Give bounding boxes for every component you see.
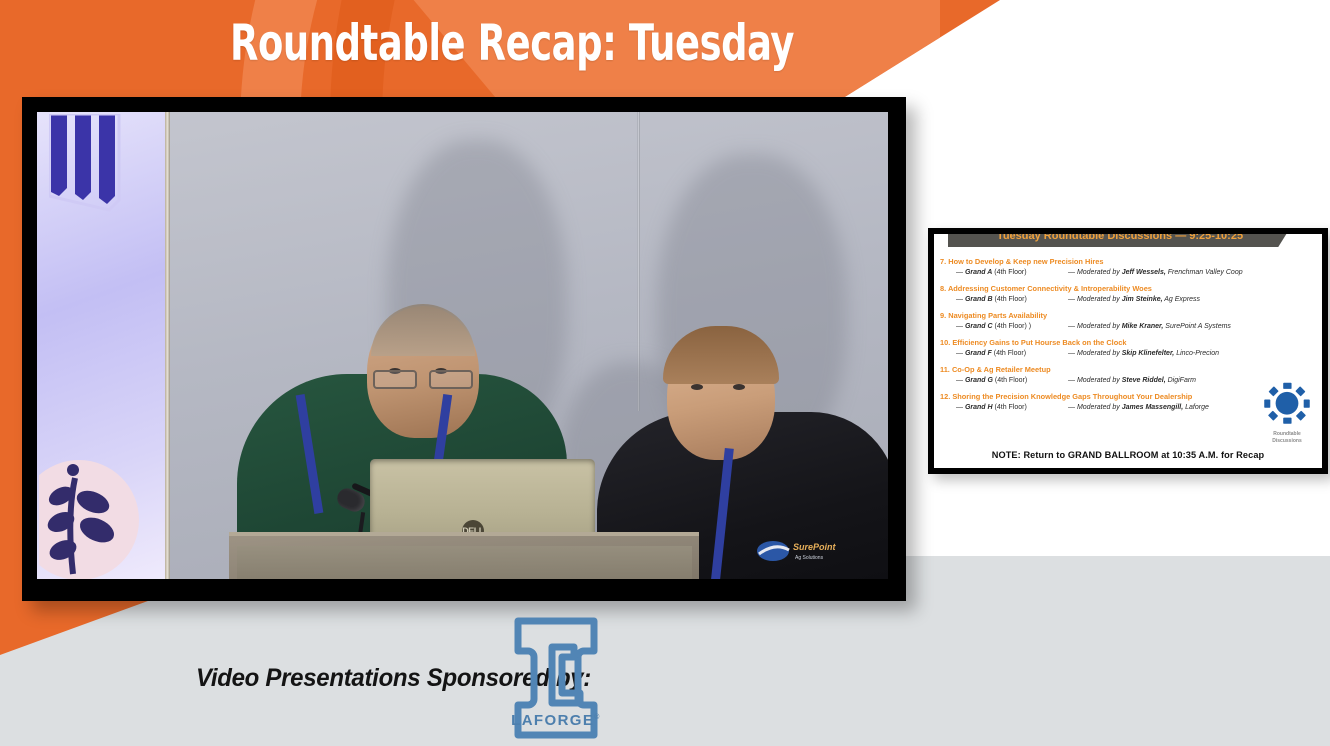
moderator-name: James Massengill, [1122, 404, 1183, 411]
roundtable-moderator: — Moderated by Steve Riddel, DigiFarm [1068, 375, 1196, 386]
moderated-prefix: — Moderated by [1068, 350, 1120, 357]
eyeglasses [373, 370, 473, 387]
roundtable-moderator: — Moderated by Mike Kraner, SurePoint A … [1068, 321, 1231, 332]
roundtable-room: — Grand A (4th Floor) [956, 267, 1068, 278]
roundtable-item: 8. Addressing Customer Connectivity & In… [940, 283, 1316, 305]
video-scene: SurePoint Ag Solutions ACRE+ [37, 112, 888, 579]
dash: — [956, 269, 963, 276]
roundtable-title: 8. Addressing Customer Connectivity & In… [940, 283, 1316, 294]
moderator-company: DigiFarm [1168, 377, 1196, 384]
svg-text:Ag Solutions: Ag Solutions [795, 555, 824, 561]
roundtable-details: — Grand F (4th Floor) — Moderated by Ski… [940, 348, 1316, 359]
room-floor: (4th Floor) [994, 269, 1026, 276]
moderator-company: Frenchman Valley Coop [1168, 269, 1243, 276]
moderated-prefix: — Moderated by [1068, 296, 1120, 303]
presentation-slide[interactable]: Tuesday Roundtable Discussions — 9:25-10… [934, 234, 1322, 468]
video-player[interactable]: SurePoint Ag Solutions ACRE+ [22, 97, 906, 601]
room-floor: (4th Floor) [995, 377, 1027, 384]
roundtable-topic: Addressing Customer Connectivity & Intro… [948, 284, 1152, 293]
roundtable-details: — Grand C (4th Floor) ) — Moderated by M… [940, 321, 1316, 332]
roundtable-item: 10. Efficiency Gains to Put Hourse Back … [940, 337, 1316, 359]
dash: — [956, 404, 963, 411]
room-name: Grand G [965, 377, 993, 384]
roundtable-room: — Grand B (4th Floor) [956, 294, 1068, 305]
eye [733, 384, 745, 390]
room-name: Grand H [965, 404, 993, 411]
slide-canvas: Roundtable Recap: Tuesday [0, 0, 1330, 746]
roundtable-room: — Grand C (4th Floor) ) [956, 321, 1068, 332]
surepoint-chest-logo: SurePoint Ag Solutions [755, 538, 851, 564]
room-floor: (4th Floor) [995, 296, 1027, 303]
moderator-company: SurePoint A Systems [1165, 323, 1231, 330]
room-floor: (4th Floor) ) [995, 323, 1032, 330]
moderator-company: Ag Express [1164, 296, 1200, 303]
roundtable-item: 9. Navigating Parts Availability — Grand… [940, 310, 1316, 332]
roundtable-badge: Roundtable Discussions [1256, 382, 1318, 445]
roundtable-number: 7. [940, 257, 946, 266]
roundtable-details: — Grand A (4th Floor) — Moderated by Jef… [940, 267, 1316, 278]
video-viewport: SurePoint Ag Solutions ACRE+ [37, 112, 888, 579]
roundtable-number: 9. [940, 311, 946, 320]
roundtable-item: 7. How to Develop & Keep new Precision H… [940, 256, 1316, 278]
backdrop-logo-top [49, 114, 141, 212]
moderated-prefix: — Moderated by [1068, 404, 1120, 411]
roundtable-number: 10. [940, 338, 950, 347]
roundtable-room: — Grand F (4th Floor) [956, 348, 1068, 359]
roundtable-title: 7. How to Develop & Keep new Precision H… [940, 256, 1316, 267]
roundtable-title: 11. Co-Op & Ag Retailer Meetup [940, 364, 1316, 375]
roundtable-title: 10. Efficiency Gains to Put Hourse Back … [940, 337, 1316, 348]
badge-caption-line1: Roundtable [1256, 431, 1318, 438]
moderated-prefix: — Moderated by [1068, 377, 1120, 384]
room-floor: (4th Floor) [995, 404, 1027, 411]
roundtable-number: 8. [940, 284, 946, 293]
roundtable-moderator: — Moderated by Skip Klinefelter, Linco-P… [1068, 348, 1219, 359]
dash: — [956, 350, 963, 357]
roundtable-topic: Navigating Parts Availability [948, 311, 1047, 320]
roundtable-topic: Efficiency Gains to Put Hourse Back on t… [952, 338, 1126, 347]
roundtable-room: — Grand H (4th Floor) [956, 402, 1068, 413]
roundtable-moderator: — Moderated by Jeff Wessels, Frenchman V… [1068, 267, 1243, 278]
roundtable-number: 12. [940, 392, 950, 401]
room-name: Grand A [965, 269, 992, 276]
dash: — [956, 296, 963, 303]
eye [691, 384, 703, 390]
roundtable-table-icon [1256, 382, 1318, 426]
moderator-company: Laforge [1185, 404, 1209, 411]
moderator-name: Jim Steinke, [1122, 296, 1163, 303]
roundtable-details: — Grand B (4th Floor) — Moderated by Jim… [940, 294, 1316, 305]
moderator-name: Skip Klinefelter, [1122, 350, 1175, 357]
roundtable-topic: How to Develop & Keep new Precision Hire… [948, 257, 1103, 266]
moderated-prefix: — Moderated by [1068, 269, 1120, 276]
roundtable-number: 11. [940, 365, 950, 374]
roundtable-room: — Grand G (4th Floor) [956, 375, 1068, 386]
roundtable-moderator: — Moderated by Jim Steinke, Ag Express [1068, 294, 1200, 305]
backdrop-logo-bottom [39, 452, 169, 579]
room-name: Grand F [965, 350, 992, 357]
moderator-name: Jeff Wessels, [1122, 269, 1166, 276]
roundtable-moderator: — Moderated by James Massengill, Laforge [1068, 402, 1209, 413]
slide-header-title: Tuesday Roundtable Discussions — 9:25-10… [948, 234, 1292, 247]
podium-front [237, 546, 692, 579]
moderator-company: Linco-Precion [1176, 350, 1219, 357]
laforge-wordmark: LAFORGE® [508, 712, 604, 729]
roundtable-topic: Shoring the Precision Knowledge Gaps Thr… [952, 392, 1192, 401]
dash: — [956, 377, 963, 384]
slide-note: NOTE: Return to GRAND BALLROOM at 10:35 … [934, 450, 1322, 460]
moderated-prefix: — Moderated by [1068, 323, 1120, 330]
badge-caption-line2: Discussions [1256, 438, 1318, 445]
moderator-name: Steve Riddel, [1122, 377, 1166, 384]
room-name: Grand C [965, 323, 993, 330]
room-name: Grand B [965, 296, 993, 303]
page-title: Roundtable Recap: Tuesday [230, 14, 794, 72]
room-floor: (4th Floor) [994, 350, 1026, 357]
roundtable-title: 9. Navigating Parts Availability [940, 310, 1316, 321]
moderator-name: Mike Kraner, [1122, 323, 1164, 330]
registered-mark: ® [594, 714, 601, 721]
svg-text:SurePoint: SurePoint [793, 542, 837, 552]
roundtable-topic: Co-Op & Ag Retailer Meetup [952, 365, 1051, 374]
dash: — [956, 323, 963, 330]
laforge-text: LAFORGE [511, 712, 594, 729]
